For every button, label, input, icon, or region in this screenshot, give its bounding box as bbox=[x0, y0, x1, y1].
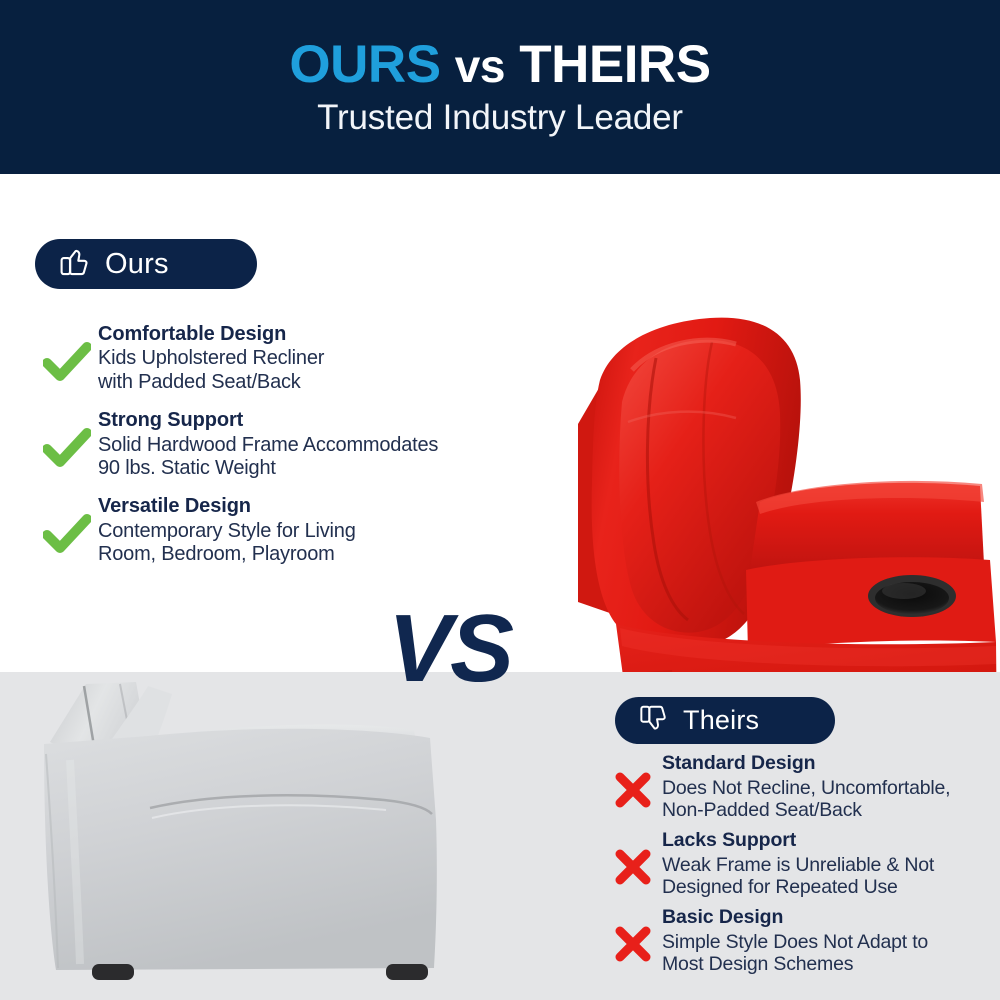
check-icon bbox=[36, 408, 98, 470]
feature-title: Strong Support bbox=[98, 408, 506, 432]
gray-competitor-chair-photo bbox=[0, 668, 470, 1000]
list-item: Versatile Design Contemporary Style for … bbox=[36, 494, 506, 566]
feature-title: Lacks Support bbox=[662, 829, 1000, 853]
check-icon bbox=[36, 494, 98, 556]
ours-badge-label: Ours bbox=[105, 250, 169, 279]
title-theirs-word: THEIRS bbox=[519, 35, 710, 94]
title-ours-word: OURS bbox=[289, 35, 440, 94]
vs-divider-label: VS bbox=[388, 601, 512, 697]
title-vs-word: vs bbox=[455, 40, 505, 92]
page-title: OURS vs THEIRS bbox=[289, 37, 710, 93]
cross-icon bbox=[604, 829, 662, 886]
ours-feature-list: Comfortable Design Kids Upholstered Recl… bbox=[36, 322, 506, 581]
feature-description: Kids Upholstered Recliner with Padded Se… bbox=[98, 347, 506, 394]
theirs-badge: Theirs bbox=[615, 697, 835, 744]
page-subtitle: Trusted Industry Leader bbox=[317, 99, 683, 138]
list-item: Standard Design Does Not Recline, Uncomf… bbox=[604, 752, 1000, 822]
header-banner: OURS vs THEIRS Trusted Industry Leader bbox=[0, 0, 1000, 174]
cross-icon bbox=[604, 906, 662, 963]
list-item: Strong Support Solid Hardwood Frame Acco… bbox=[36, 408, 506, 480]
feature-description: Does Not Recline, Uncomfortable, Non-Pad… bbox=[662, 777, 1000, 822]
feature-description: Solid Hardwood Frame Accommodates 90 lbs… bbox=[98, 434, 506, 481]
list-item: Lacks Support Weak Frame is Unreliable &… bbox=[604, 829, 1000, 899]
list-item: Comfortable Design Kids Upholstered Recl… bbox=[36, 322, 506, 394]
cross-icon bbox=[604, 752, 662, 809]
feature-title: Comfortable Design bbox=[98, 322, 506, 346]
check-icon bbox=[36, 322, 98, 384]
theirs-badge-label: Theirs bbox=[683, 707, 759, 734]
list-item: Basic Design Simple Style Does Not Adapt… bbox=[604, 906, 1000, 976]
feature-description: Contemporary Style for Living Room, Bedr… bbox=[98, 520, 506, 567]
feature-description: Simple Style Does Not Adapt to Most Desi… bbox=[662, 931, 1000, 976]
thumbs-down-icon bbox=[637, 703, 669, 739]
feature-title: Standard Design bbox=[662, 752, 1000, 776]
feature-title: Versatile Design bbox=[98, 494, 506, 518]
feature-description: Weak Frame is Unreliable & Not Designed … bbox=[662, 854, 1000, 899]
feature-title: Basic Design bbox=[662, 906, 1000, 930]
theirs-feature-list: Standard Design Does Not Recline, Uncomf… bbox=[604, 752, 1000, 983]
comparison-infographic: OURS vs THEIRS Trusted Industry Leader bbox=[0, 0, 1000, 1000]
ours-badge: Ours bbox=[35, 239, 257, 289]
thumbs-up-icon bbox=[57, 245, 91, 283]
red-kids-recliner-photo bbox=[560, 172, 1000, 672]
